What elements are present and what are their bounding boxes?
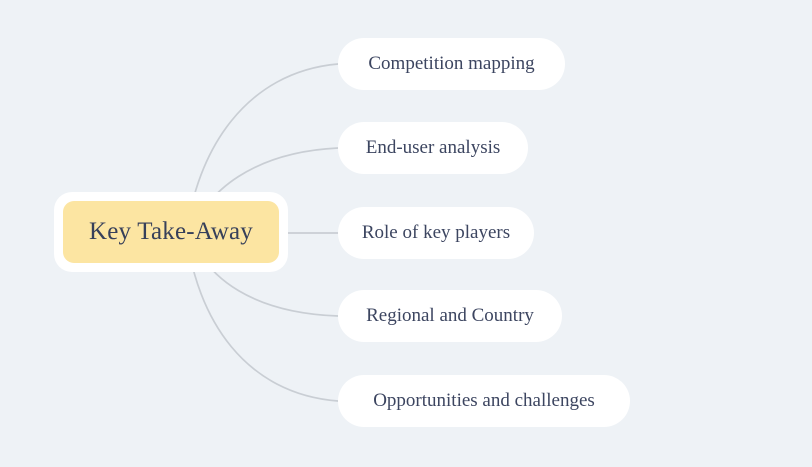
branch-node-label: Regional and Country <box>344 305 556 327</box>
branch-node-label: Role of key players <box>340 222 532 244</box>
branch-node-end-user-analysis[interactable]: End-user analysis <box>338 122 528 174</box>
branch-node-label: Competition mapping <box>346 53 556 75</box>
branch-node-opportunities-and-challenges[interactable]: Opportunities and challenges <box>338 375 630 427</box>
root-node-label: Key Take-Away <box>83 218 259 246</box>
branch-node-competition-mapping[interactable]: Competition mapping <box>338 38 565 90</box>
mind-map-canvas: Key Take-Away Competition mapping End-us… <box>0 0 812 467</box>
branch-node-label: End-user analysis <box>344 137 523 159</box>
branch-node-role-of-key-players[interactable]: Role of key players <box>338 207 534 259</box>
root-node-key-take-away[interactable]: Key Take-Away <box>54 192 288 272</box>
branch-node-regional-and-country[interactable]: Regional and Country <box>338 290 562 342</box>
root-node-fill: Key Take-Away <box>63 201 279 263</box>
branch-node-label: Opportunities and challenges <box>351 390 617 412</box>
